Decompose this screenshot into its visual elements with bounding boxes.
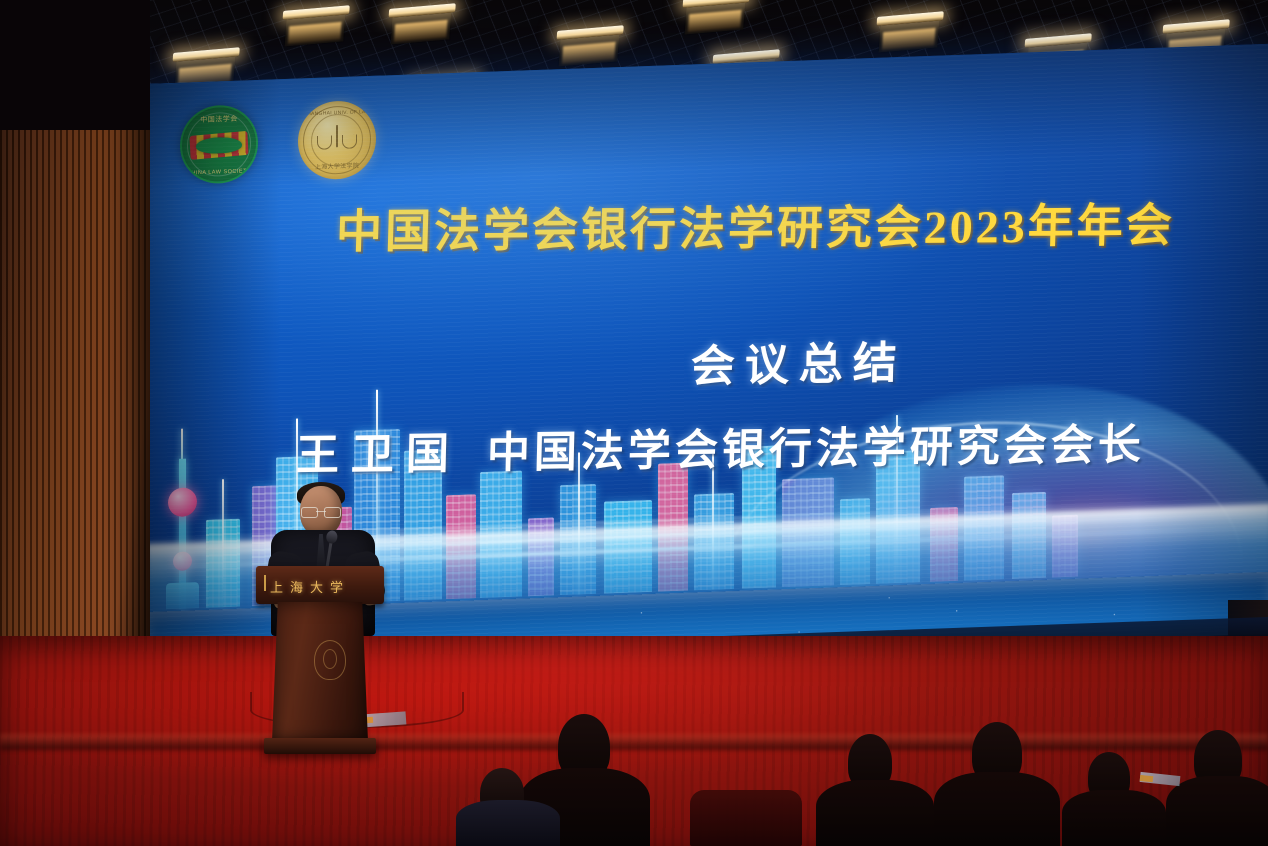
speaker-name: 王卫国 bbox=[295, 431, 461, 480]
audience-paper bbox=[1140, 772, 1181, 786]
stage-spotlight bbox=[391, 10, 452, 45]
stage-spotlight bbox=[559, 32, 620, 67]
stage-spotlight bbox=[285, 12, 346, 47]
slide-speaker-line: 王卫国中国法学会银行法学研究会会长 bbox=[295, 410, 1145, 483]
speaker-title: 中国法学会银行法学研究会会长 bbox=[486, 422, 1145, 478]
stage-spotlight bbox=[685, 0, 746, 34]
slide-title-line1: 中国法学会银行法学研究会2023年年会 bbox=[335, 189, 1176, 262]
eyeglasses-icon bbox=[301, 507, 341, 516]
podium-name-plate: 上海大学 bbox=[270, 577, 350, 596]
podium-top-panel: 上海大学 bbox=[256, 566, 384, 604]
conference-stage-photo: 中国法学会 CHINA LAW SOCIETY SHANGHAI UNIV. O… bbox=[0, 0, 1268, 846]
slide-title-line2: 会议总结 bbox=[690, 327, 907, 395]
seat-back bbox=[690, 790, 802, 846]
stage-spotlight bbox=[879, 18, 940, 53]
audience-row bbox=[0, 686, 1268, 846]
wall-shadow-top bbox=[0, 0, 150, 130]
shanghai-university-crest-icon bbox=[314, 640, 346, 680]
